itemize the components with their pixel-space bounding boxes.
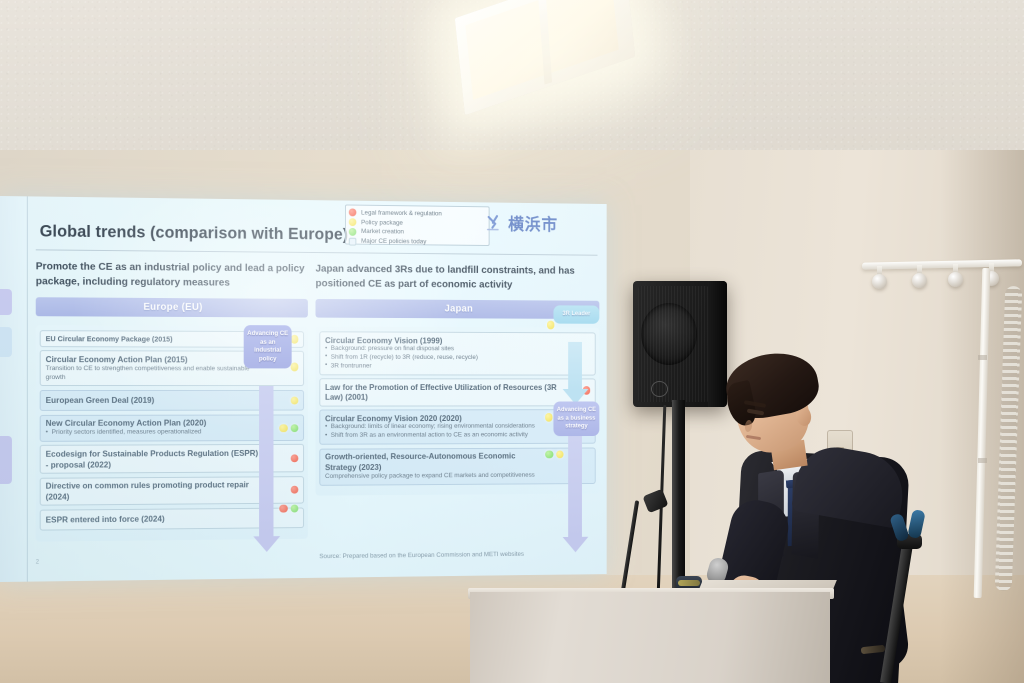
stand-clamp xyxy=(893,510,927,546)
column-lead-text: Promote the CE as an industrial policy a… xyxy=(36,260,308,292)
callout-japan: Advancing CE as a business strategy xyxy=(553,401,599,435)
status-dots xyxy=(279,424,298,432)
dot-yellow xyxy=(279,424,287,432)
conference-presentation-photo: Global trends (comparison with Europe) L… xyxy=(0,0,1024,683)
card-title: EU Circular Economy Package (2015) xyxy=(46,334,259,344)
page-title: Global trends (comparison with Europe) xyxy=(40,222,348,244)
legend-label: Policy package xyxy=(361,219,403,226)
projection-screen: Global trends (comparison with Europe) L… xyxy=(0,196,607,582)
spotlight-icon xyxy=(872,274,887,289)
dot-red xyxy=(290,454,298,462)
legend-swatch-yellow xyxy=(349,218,357,226)
dot-yellow xyxy=(547,321,555,329)
callout-3r-leader: 3R Leader xyxy=(553,305,599,323)
dot-green xyxy=(290,424,298,432)
status-dots xyxy=(279,504,298,512)
legend-label: Major CE policies today xyxy=(361,238,426,245)
list-item[interactable]: Circular Economy Vision (1999) Backgroun… xyxy=(319,331,595,375)
legend-label: Legal framework & regulation xyxy=(361,209,442,217)
column-japan: Japan advanced 3Rs due to landfill const… xyxy=(316,263,600,496)
card-subtitle: Comprehensive policy package to expand C… xyxy=(325,472,543,482)
spotlight-icon xyxy=(948,272,963,287)
legend-swatch-red xyxy=(349,209,357,217)
dot-yellow xyxy=(290,396,298,404)
list-item[interactable]: Law for the Promotion of Effective Utili… xyxy=(319,378,595,406)
card-title: New Circular Economy Action Plan (2020) xyxy=(46,418,259,429)
column-header-europe: Europe (EU) xyxy=(36,297,308,317)
list-item[interactable]: Growth-oriented, Resource-Autonomous Eco… xyxy=(319,447,595,485)
status-dots xyxy=(290,396,298,404)
card-title: Growth-oriented, Resource-Autonomous Eco… xyxy=(325,451,543,473)
status-dots xyxy=(547,321,555,329)
arrow-down-europe xyxy=(259,386,273,537)
title-divider xyxy=(36,249,598,256)
dot-red xyxy=(279,505,287,513)
dot-green xyxy=(290,504,298,512)
status-dots xyxy=(545,450,563,458)
spotlight-icon xyxy=(912,273,927,288)
legend-label: Market creation xyxy=(361,229,404,236)
source-note: Source: Prepared based on the European C… xyxy=(319,551,524,560)
yokohama-city-logo: 横浜市 xyxy=(485,210,558,235)
card-title: European Green Deal (2019) xyxy=(46,395,259,406)
speaker-brand-icon xyxy=(651,381,668,397)
legend: Legal framework & regulation Policy pack… xyxy=(345,204,490,245)
card-title: Circular Economy Vision (1999) xyxy=(325,335,532,346)
status-dots xyxy=(290,486,298,494)
card-title: ESPR entered into force (2024) xyxy=(46,513,259,525)
dot-yellow xyxy=(290,363,298,371)
card-bullet: Priority sectors identified, measures op… xyxy=(46,428,259,437)
dot-red xyxy=(290,486,298,494)
legend-swatch-pale xyxy=(349,238,357,246)
dot-yellow xyxy=(545,413,553,421)
slide-content: Global trends (comparison with Europe) L… xyxy=(28,196,607,581)
legend-swatch-green xyxy=(349,228,357,236)
card-bullet: 3R frontrunner xyxy=(325,362,532,371)
card-subtitle: Transition to CE to strengthen competiti… xyxy=(46,365,259,382)
card-title: Circular Economy Action Plan (2015) xyxy=(46,354,259,365)
arrow-down-3r-leader xyxy=(568,342,582,390)
page-number: 2 xyxy=(36,560,39,566)
card-title: Directive on common rules promoting prod… xyxy=(46,479,259,502)
legend-item: Major CE policies today xyxy=(349,237,486,248)
logo-text: 横浜市 xyxy=(508,210,558,235)
status-dots xyxy=(290,363,298,371)
arrow-down-japan xyxy=(568,428,582,538)
column-europe: Promote the CE as an industrial policy a… xyxy=(36,260,308,541)
podium xyxy=(470,592,830,683)
column-lead-text: Japan advanced 3Rs due to landfill const… xyxy=(316,263,600,294)
status-dots xyxy=(290,454,298,462)
slide-edge-bleed xyxy=(0,196,28,582)
callout-europe: Advancing CE as an industrial policy xyxy=(244,325,292,368)
yokohama-mark-icon xyxy=(485,212,505,233)
card-bullet: Shift from 1R (recycle) to 3R (reduce, r… xyxy=(325,354,532,363)
card-title: Ecodesign for Sustainable Products Regul… xyxy=(46,448,259,470)
status-dots xyxy=(545,413,553,421)
dot-yellow xyxy=(556,450,564,458)
card-title: Circular Economy Vision 2020 (2020) xyxy=(325,413,543,424)
dot-green xyxy=(545,450,553,458)
card-bullet: Shift from 3R as an environmental action… xyxy=(325,432,543,441)
card-title: Law for the Promotion of Effective Utili… xyxy=(325,382,567,403)
